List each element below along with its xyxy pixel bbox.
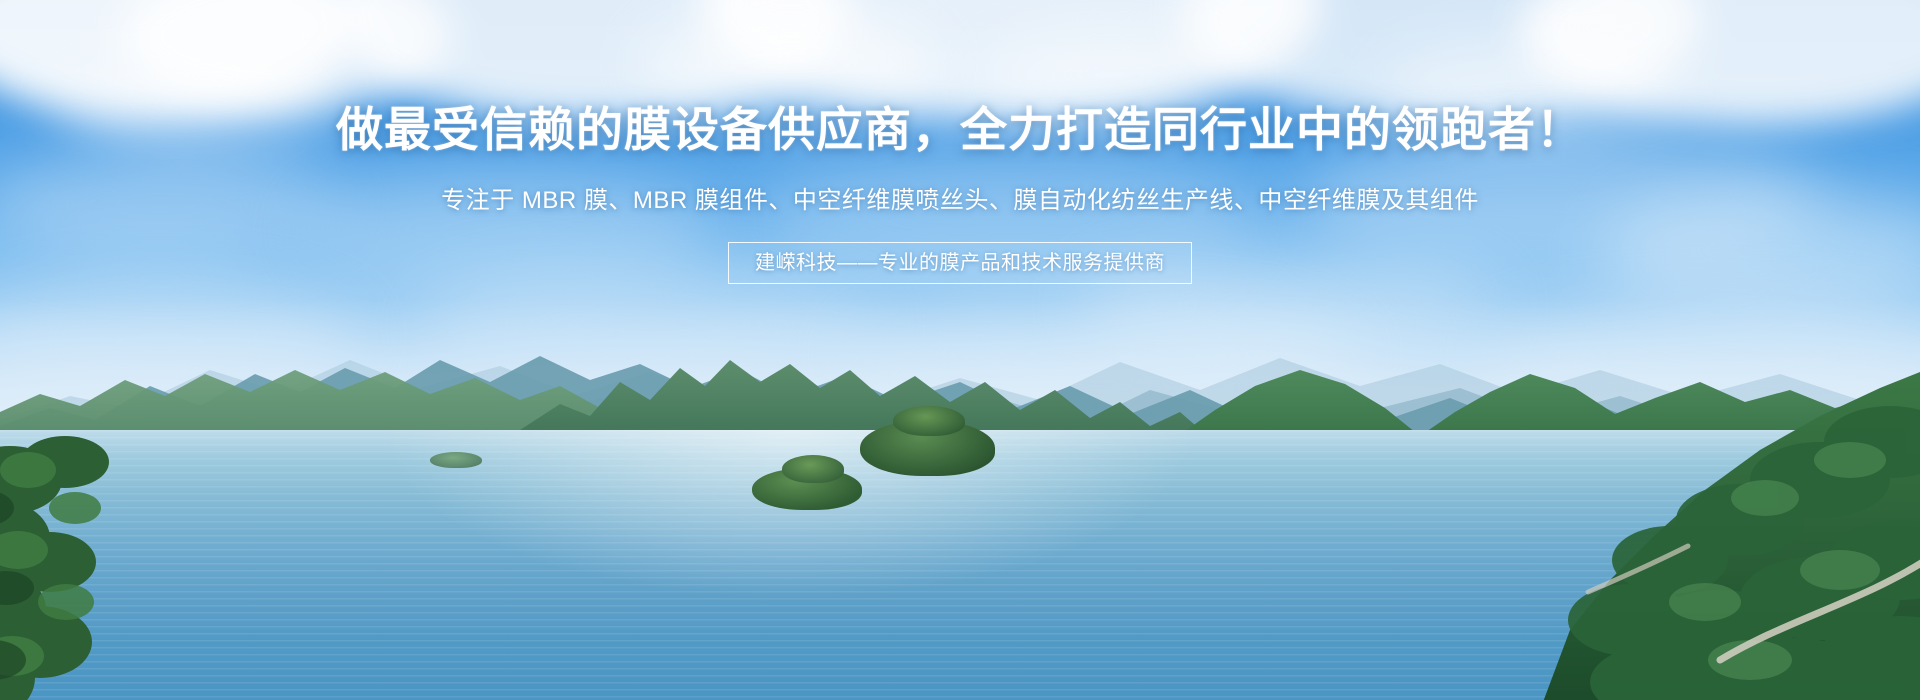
banner-tagline-box: 建嵘科技——专业的膜产品和技术服务提供商 [728,242,1192,284]
banner-content: 做最受信赖的膜设备供应商，全力打造同行业中的领跑者！ 专注于 MBR 膜、MBR… [0,0,1920,700]
banner-headline: 做最受信赖的膜设备供应商，全力打造同行业中的领跑者！ [0,100,1920,162]
hero-banner: 做最受信赖的膜设备供应商，全力打造同行业中的领跑者！ 专注于 MBR 膜、MBR… [0,0,1920,700]
banner-tagline-wrapper: 建嵘科技——专业的膜产品和技术服务提供商 [0,242,1920,284]
banner-subtitle: 专注于 MBR 膜、MBR 膜组件、中空纤维膜喷丝头、膜自动化纺丝生产线、中空纤… [0,185,1920,217]
